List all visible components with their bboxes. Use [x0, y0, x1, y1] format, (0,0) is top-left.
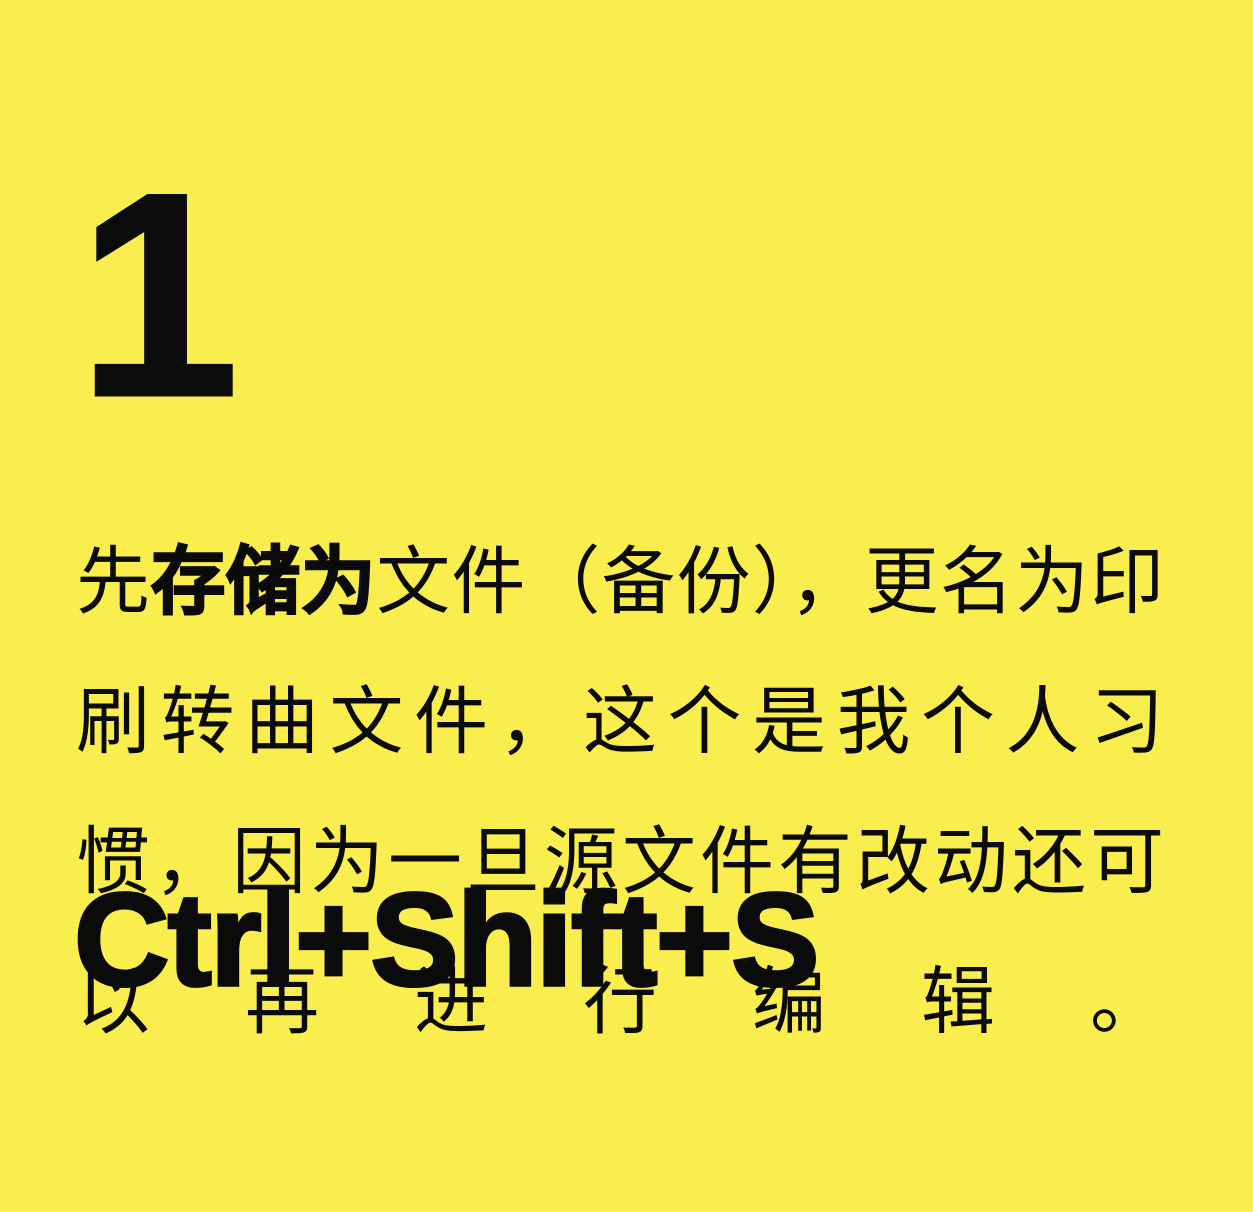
step-number: 1: [78, 150, 233, 440]
body-run-regular-1: 先: [76, 540, 151, 623]
instruction-slide: 1 先存储为文件（备份），更名为印刷转曲文件，这个是我个人习惯，因为一旦源文件有…: [0, 0, 1253, 1114]
body-paragraph: 先存储为文件（备份），更名为印刷转曲文件，这个是我个人习惯，因为一旦源文件有改动…: [76, 512, 1164, 1212]
body-run-bold-emphasis: 存储为: [151, 540, 376, 623]
keyboard-shortcut: Ctrl+Shift+S: [74, 874, 818, 1006]
